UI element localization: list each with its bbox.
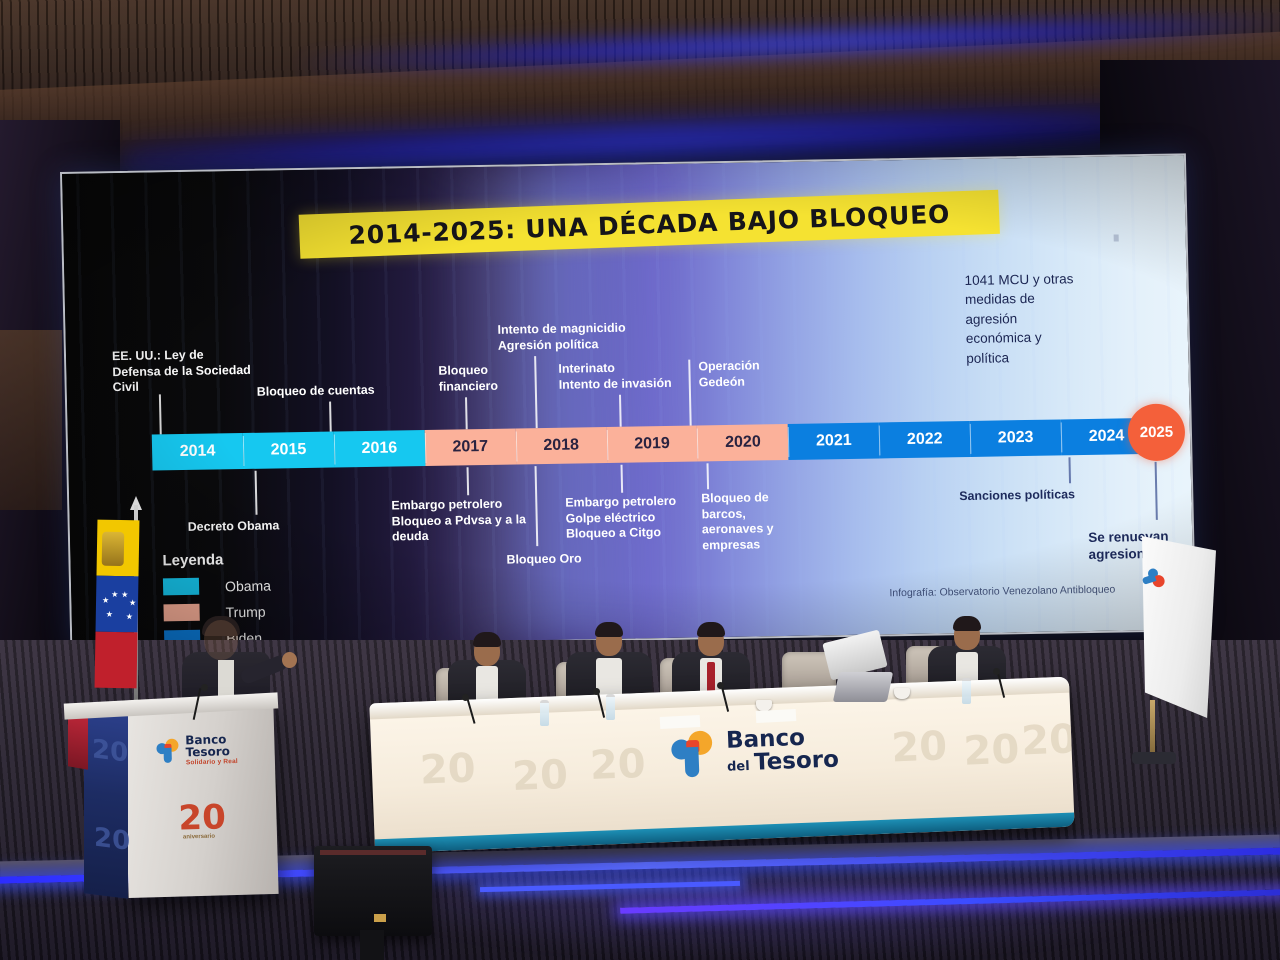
- podium-logo-text: Banco Tesoro Solidario y Real: [185, 733, 238, 766]
- speaker-hand: [282, 652, 297, 668]
- podium-watermark-20: 20: [92, 734, 128, 768]
- panelist-hair: [953, 616, 981, 631]
- banco-del-tesoro-flag: [1142, 536, 1216, 718]
- banco-del-tesoro-wordmark: Banco del Tesoro: [726, 726, 840, 776]
- podium-anniversary-mark: 20: [178, 797, 226, 838]
- monitor-badge-icon: [374, 914, 386, 922]
- podium-microphone-head-icon: [201, 684, 208, 691]
- water-bottle: [540, 700, 549, 726]
- monitor-brand-strip: [320, 850, 426, 855]
- bank-name-line2: del Tesoro: [727, 749, 840, 776]
- stage-monitor: [314, 846, 432, 936]
- table-microphone-head-icon: [593, 688, 600, 695]
- table-microphone-head-icon: [717, 682, 724, 689]
- slide-vignette: [62, 155, 1194, 647]
- bank-name-tesoro: Tesoro: [754, 747, 840, 776]
- desk-watermark-20: 20: [589, 741, 646, 789]
- panelist-hair: [595, 622, 623, 637]
- flag-star-icon: ★: [106, 610, 113, 619]
- flag-base-right: [1132, 752, 1176, 764]
- water-bottle: [962, 678, 971, 704]
- flag-star-icon: ★: [121, 590, 128, 599]
- banco-del-tesoro-mark-icon: [156, 738, 181, 763]
- laptop: [833, 672, 893, 702]
- logo-stem: [684, 747, 699, 778]
- desk-watermark-20: 20: [963, 727, 1020, 775]
- bank-name-del: del: [727, 759, 755, 775]
- table-microphone-head-icon: [462, 694, 469, 701]
- podium-side-panel: 20 20: [84, 709, 128, 898]
- floor-light-glow: [330, 880, 1230, 960]
- monitor-stand: [360, 930, 384, 960]
- banco-del-tesoro-logo-desk: Banco del Tesoro: [671, 726, 840, 778]
- papers: [756, 709, 797, 723]
- desk-watermark-20: 20: [511, 752, 568, 800]
- flag-star-icon: ★: [129, 598, 136, 607]
- speaker-head: [204, 620, 238, 660]
- left-wall-wood-panel: [0, 330, 62, 510]
- desk-watermark-20: 20: [891, 723, 948, 771]
- flag-star-icon: ★: [111, 590, 118, 599]
- banco-del-tesoro-mark-icon: [671, 730, 719, 778]
- panelist-hair: [473, 632, 501, 647]
- papers: [660, 715, 701, 729]
- flag-star-icon: ★: [126, 612, 133, 621]
- flag-star-icon: ★: [102, 596, 109, 605]
- podium-tagline: Solidario y Real: [186, 758, 238, 766]
- conference-stage-photo: 2014-2025: UNA DÉCADA BAJO BLOQUEO 1041 …: [0, 0, 1280, 960]
- anniversary-number: 20: [178, 797, 226, 838]
- flag-pole-right: [1150, 700, 1155, 760]
- projection-screen: 2014-2025: UNA DÉCADA BAJO BLOQUEO 1041 …: [60, 153, 1196, 650]
- podium-watermark-20: 20: [94, 823, 130, 857]
- water-bottle: [606, 694, 615, 720]
- podium-anniversary-caption: aniversario: [183, 834, 215, 841]
- panelist-hair: [697, 622, 725, 637]
- flag-stripe-red: [95, 632, 138, 689]
- podium-bank-line2: Tesoro: [185, 745, 237, 759]
- desk-watermark-20: 20: [1020, 716, 1074, 764]
- podium-logo: Banco Tesoro Solidario y Real: [156, 733, 238, 767]
- table-microphone-head-icon: [993, 668, 1000, 675]
- desk-watermark-20: 20: [419, 745, 476, 793]
- podium: Banco Tesoro Solidario y Real 20 anivers…: [123, 704, 278, 898]
- venezuela-flag: ★ ★ ★ ★ ★ ★: [95, 520, 140, 689]
- coat-of-arms-icon: [102, 532, 125, 566]
